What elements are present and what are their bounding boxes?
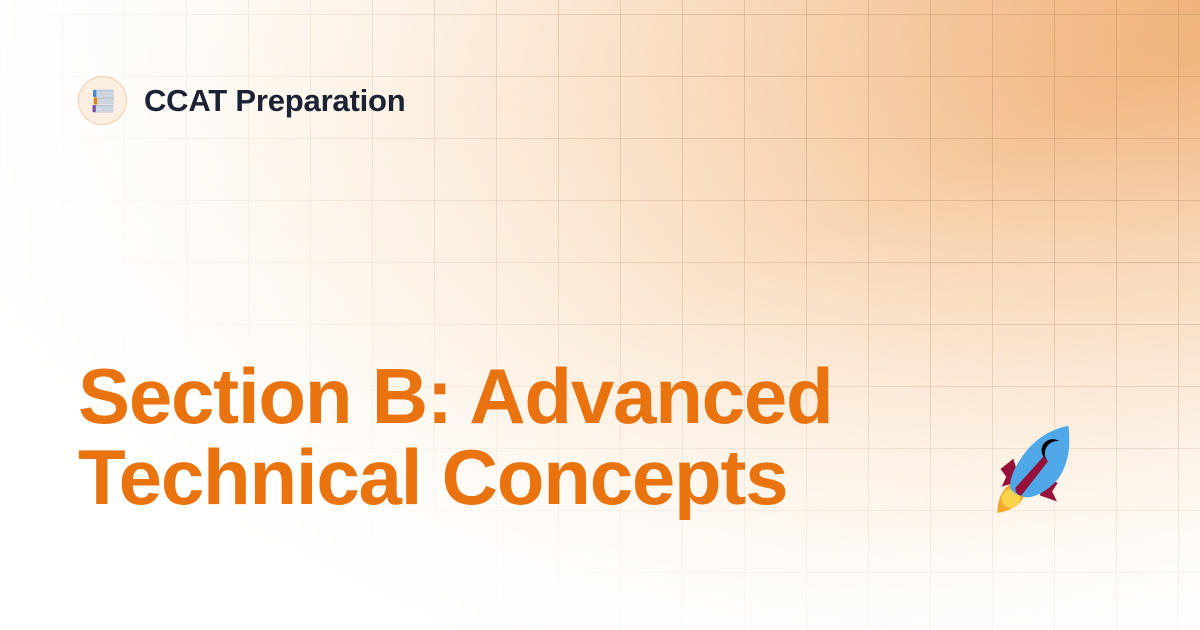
brand-title: CCAT Preparation — [144, 85, 405, 116]
books-icon — [87, 85, 119, 117]
brand-header: CCAT Preparation — [78, 76, 405, 125]
page-title: Section B: Advanced Technical Concepts — [78, 356, 958, 518]
headline-block: Section B: Advanced Technical Concepts — [78, 356, 1118, 518]
rocket-icon — [980, 420, 1084, 524]
banner-canvas: CCAT Preparation Section B: Advanced Tec… — [0, 0, 1200, 630]
brand-badge — [78, 76, 127, 125]
